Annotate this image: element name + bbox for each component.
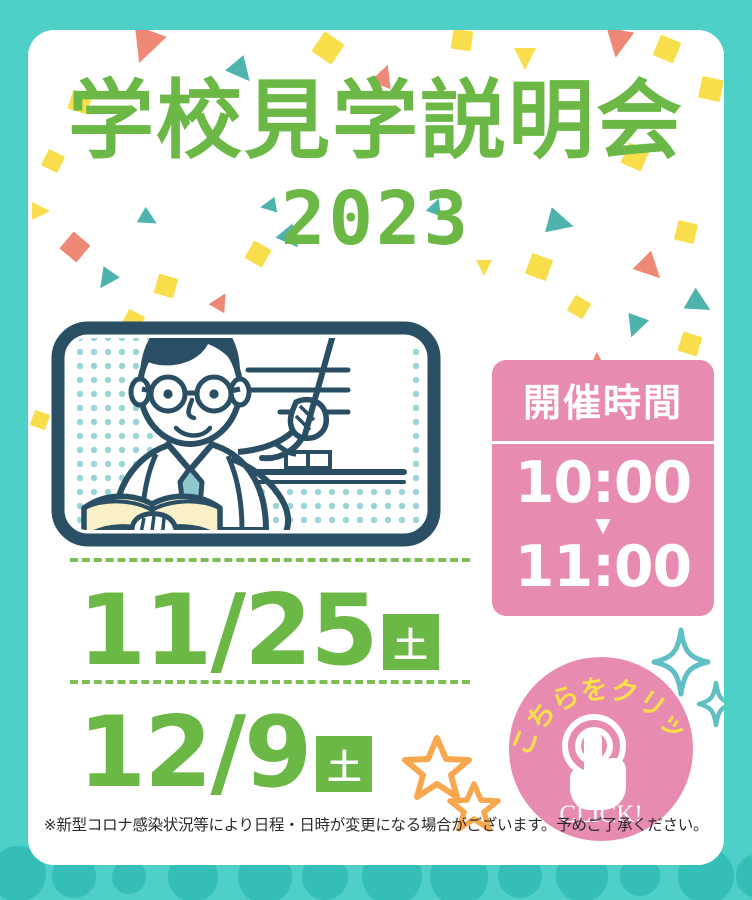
- year-title: 2023: [28, 182, 724, 256]
- title-block: 学校見学説明会 2023: [28, 78, 724, 256]
- day-badge-2: 土: [316, 736, 372, 792]
- confetti-tri-6: [514, 48, 536, 70]
- teacher-tablet-illustration: [48, 292, 448, 554]
- confetti-tri-0: [123, 30, 167, 69]
- page-title: 学校見学説明会: [28, 78, 724, 164]
- time-box-header: 開催時間: [492, 360, 714, 441]
- day-badge-1: 土: [383, 614, 439, 670]
- date-text-1: 11/25: [78, 582, 377, 680]
- poster-card: 学校見学説明会 2023: [28, 30, 724, 865]
- confetti-sq-5: [451, 30, 474, 51]
- confetti-sq-22: [525, 253, 553, 281]
- confetti-sq-7: [653, 35, 682, 64]
- confetti-tri-29: [621, 313, 649, 341]
- confetti-tri-8: [602, 30, 634, 60]
- band-dot-2: [112, 860, 146, 894]
- disclaimer-note: ※新型コロナ感染状況等により日程・日時が変更になる場合がございます。予めご了承く…: [28, 813, 724, 835]
- confetti-tri-25: [633, 251, 670, 288]
- poster-root: 学校見学説明会 2023: [0, 0, 752, 900]
- confetti-tri-14: [92, 266, 120, 294]
- date-row-1: 11/25 土: [70, 562, 470, 680]
- confetti-sq-32: [567, 295, 592, 320]
- confetti-tri-27: [684, 288, 717, 321]
- date-text-2: 12/9: [78, 704, 310, 802]
- time-box-body: 10:00 ▼ 11:00: [492, 444, 714, 616]
- sparkle-small-icon: [696, 680, 724, 733]
- confetti-sq-28: [677, 331, 702, 356]
- confetti-sq-3: [311, 31, 344, 64]
- band-dot-12: [736, 854, 752, 898]
- confetti-tri-33: [476, 260, 492, 276]
- event-time-box: 開催時間 10:00 ▼ 11:00: [492, 360, 714, 616]
- down-arrow-icon: ▼: [492, 516, 714, 534]
- time-end: 11:00: [492, 538, 714, 598]
- time-start: 10:00: [492, 454, 714, 514]
